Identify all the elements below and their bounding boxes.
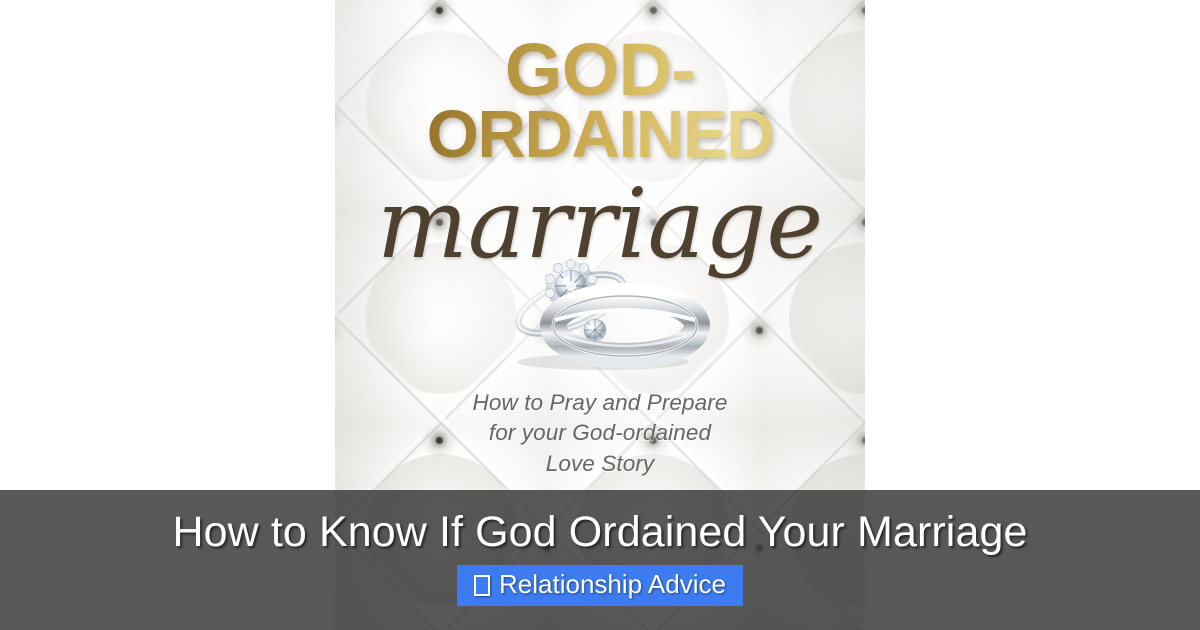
social-share-card: GOD- ORDAINED marriage How to Pray and P… — [0, 0, 1200, 630]
cover-subtitle-line-1: How to Pray and Prepare — [335, 388, 865, 418]
category-badge-label: Relationship Advice — [499, 570, 726, 600]
cover-title-line-2: ORDAINED — [335, 104, 865, 166]
cover-script-word: marriage — [335, 176, 865, 272]
cover-title-line-1: GOD- — [335, 36, 865, 104]
category-badge[interactable]: Relationship Advice — [457, 565, 743, 606]
cover-subtitle-line-3: Love Story — [335, 449, 865, 479]
missing-glyph-box-icon — [474, 575, 490, 596]
page-title: How to Know If God Ordained Your Marriag… — [0, 508, 1200, 557]
cover-subtitle-line-2: for your God-ordained — [335, 418, 865, 448]
cover-subtitle: How to Pray and Prepare for your God-ord… — [335, 388, 865, 479]
category-badge-row: Relationship Advice — [0, 565, 1200, 606]
